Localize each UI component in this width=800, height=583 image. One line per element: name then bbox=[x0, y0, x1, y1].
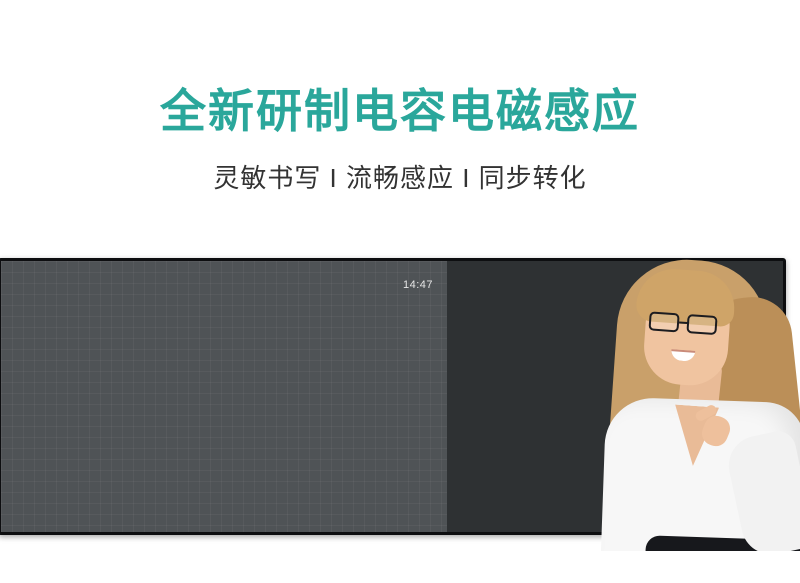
top-whitespace bbox=[0, 0, 800, 18]
page-title: 全新研制电容电磁感应 bbox=[0, 86, 800, 137]
presenter-photo bbox=[585, 238, 800, 583]
clock-label: 14:47 bbox=[403, 279, 433, 291]
promo-banner: 全新研制电容电磁感应 灵敏书写 I 流畅感应 I 同步转化 14:47 g1ºº… bbox=[0, 0, 800, 583]
bottom-whitespace bbox=[0, 551, 800, 583]
glasses-lens-right bbox=[686, 314, 717, 335]
glasses-lens-left bbox=[648, 311, 679, 332]
page-subtitle: 灵敏书写 I 流畅感应 I 同步转化 bbox=[0, 163, 800, 194]
screen-left-panel: 14:47 bbox=[1, 261, 447, 532]
